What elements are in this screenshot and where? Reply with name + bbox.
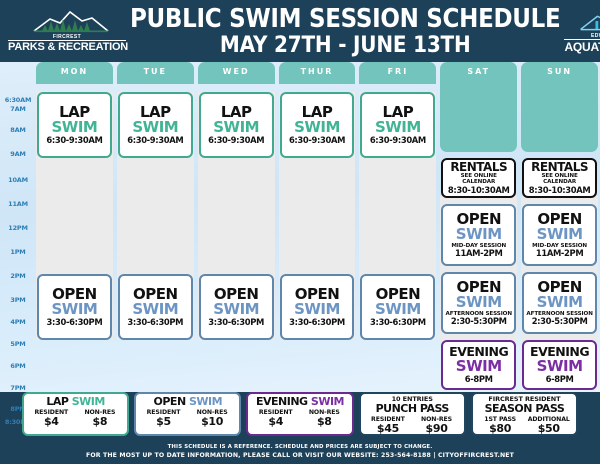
time-label: 8AM <box>0 126 36 134</box>
day-column-body: LAPSWIM6:30-9:30AMOPENSWIM3:30-6:30PM <box>36 84 113 392</box>
day-column-wed: WEDLAPSWIM6:30-9:30AMOPENSWIM3:30-6:30PM <box>198 62 275 392</box>
session-time: 6:30-9:30AM <box>201 136 272 145</box>
mountain-city-icon <box>564 8 600 34</box>
session-time: 3:30-6:30PM <box>39 318 110 327</box>
price-card[interactable]: 10 ENTRIESPUNCH PASSRESIDENT$45NON-RES$9… <box>359 392 466 436</box>
day-header-sat[interactable]: SAT <box>440 62 517 152</box>
title-line-2: MAY 27TH - JUNE 13TH <box>130 32 560 57</box>
session-time: 11AM-2PM <box>443 249 514 258</box>
session-card-open[interactable]: OPENSWIMAFTERNOON SESSION2:30-5:30PM <box>441 272 516 334</box>
session-card-open[interactable]: OPENSWIMMID-DAY SESSION11AM-2PM <box>441 204 516 266</box>
day-header-mon[interactable]: MON <box>36 62 113 84</box>
logo-right-main: AQUATIC CENTER <box>564 39 600 54</box>
price-title: SEASON PASS <box>485 403 565 415</box>
day-column-thur: THURLAPSWIM6:30-9:30AMOPENSWIM3:30-6:30P… <box>279 62 356 392</box>
session-card-evening[interactable]: EVENINGSWIM6-8PM <box>441 340 516 390</box>
day-column-mon: MONLAPSWIM6:30-9:30AMOPENSWIM3:30-6:30PM <box>36 62 113 392</box>
footer-contact: FOR THE MOST UP TO DATE INFORMATION, PLE… <box>0 452 600 459</box>
price-value: $4 <box>27 416 76 428</box>
day-column-sun: SUNRENTALSSEE ONLINE CALENDAR8:30-10:30A… <box>521 62 598 392</box>
session-time: 2:30-5:30PM <box>524 317 595 326</box>
session-subtitle: SWIM <box>201 302 272 318</box>
session-time: 3:30-6:30PM <box>120 318 191 327</box>
price-cell: NON-RES$8 <box>300 409 349 429</box>
price-title-main: PUNCH PASS <box>376 402 449 415</box>
price-title: PUNCH PASS <box>376 403 449 415</box>
price-value: $10 <box>188 416 237 428</box>
time-label: 3PM <box>0 296 36 304</box>
price-card[interactable]: FIRCREST RESIDENTSEASON PASS1ST PASS$80A… <box>471 392 578 436</box>
price-card[interactable]: OPEN SWIMRESIDENT$5NON-RES$10 <box>134 392 241 436</box>
session-subtitle: SWIM <box>524 227 595 243</box>
session-card-evening[interactable]: EVENINGSWIM6-8PM <box>522 340 597 390</box>
price-title: OPEN SWIM <box>154 396 223 408</box>
session-card-open[interactable]: OPENSWIM3:30-6:30PM <box>37 274 112 340</box>
price-cell: RESIDENT$4 <box>27 409 76 429</box>
session-time: 6:30-9:30AM <box>362 136 433 145</box>
session-time: 3:30-6:30PM <box>362 318 433 327</box>
day-column-body: LAPSWIM6:30-9:30AMOPENSWIM3:30-6:30PM <box>359 84 436 392</box>
session-subtitle: SWIM <box>39 120 110 136</box>
session-subtitle: SWIM <box>362 302 433 318</box>
time-label: 12PM <box>0 224 36 232</box>
price-value: $50 <box>524 423 573 435</box>
session-subtitle: SWIM <box>282 120 353 136</box>
session-time: 3:30-6:30PM <box>282 318 353 327</box>
page-footer: THIS SCHEDULE IS A REFERENCE. SCHEDULE A… <box>0 442 600 464</box>
day-column-body: RENTALSSEE ONLINE CALENDAR8:30-10:30AMOP… <box>440 152 517 392</box>
price-cell: ADDITIONAL$50 <box>524 416 573 436</box>
session-card-rentals[interactable]: RENTALSSEE ONLINE CALENDAR8:30-10:30AM <box>522 158 597 198</box>
session-time: 8:30-10:30AM <box>443 186 514 195</box>
day-header-tue[interactable]: TUE <box>117 62 194 84</box>
session-subtitle: SWIM <box>120 302 191 318</box>
logo-left-main: PARKS & RECREATION <box>8 40 126 54</box>
price-columns: RESIDENT$5NON-RES$10 <box>139 409 236 429</box>
price-columns: RESIDENT$4NON-RES$8 <box>27 409 124 429</box>
day-column-tue: TUELAPSWIM6:30-9:30AMOPENSWIM3:30-6:30PM <box>117 62 194 392</box>
price-cell: NON-RES$90 <box>412 416 461 436</box>
session-card-open[interactable]: OPENSWIM3:30-6:30PM <box>199 274 274 340</box>
day-header-thur[interactable]: THUR <box>279 62 356 84</box>
session-time: 6:30-9:30AM <box>120 136 191 145</box>
time-label: 6PM <box>0 362 36 370</box>
time-label: 7AM <box>0 105 36 113</box>
day-header-sun[interactable]: SUN <box>521 62 598 152</box>
session-card-open[interactable]: OPENSWIM3:30-6:30PM <box>360 274 435 340</box>
price-title: LAP SWIM <box>46 396 105 408</box>
session-time: 3:30-6:30PM <box>201 318 272 327</box>
time-label: 9AM <box>0 150 36 158</box>
session-card-lap[interactable]: LAPSWIM6:30-9:30AM <box>118 92 193 158</box>
session-card-lap[interactable]: LAPSWIM6:30-9:30AM <box>37 92 112 158</box>
session-subtitle: SWIM <box>120 120 191 136</box>
session-subtitle: SWIM <box>443 227 514 243</box>
session-title: RENTALS <box>443 161 514 173</box>
time-label: 1PM <box>0 248 36 256</box>
price-cell: RESIDENT$45 <box>364 416 413 436</box>
price-value: $90 <box>412 423 461 435</box>
price-value: $45 <box>364 423 413 435</box>
footer-disclaimer: THIS SCHEDULE IS A REFERENCE. SCHEDULE A… <box>0 442 600 450</box>
pricing-bar: LAP SWIMRESIDENT$4NON-RES$8OPEN SWIMRESI… <box>0 392 600 442</box>
schedule-grid: 6:30AM7AM8AM9AM10AM11AM12PM1PM2PM3PM4PM5… <box>0 62 600 392</box>
session-card-open[interactable]: OPENSWIM3:30-6:30PM <box>280 274 355 340</box>
time-label: 2PM <box>0 272 36 280</box>
session-time: 2:30-5:30PM <box>443 317 514 326</box>
mountain-trees-icon <box>8 9 126 35</box>
day-column-body: LAPSWIM6:30-9:30AMOPENSWIM3:30-6:30PM <box>198 84 275 392</box>
price-title-accent: SWIM <box>186 395 222 408</box>
session-subtitle: SWIM <box>524 359 595 375</box>
price-card[interactable]: EVENING SWIMRESIDENT$4NON-RES$8 <box>246 392 353 436</box>
time-label: 4PM <box>0 318 36 326</box>
price-columns: 1ST PASS$80ADDITIONAL$50 <box>476 416 573 436</box>
session-note: SEE ONLINE CALENDAR <box>524 173 595 185</box>
price-cell: NON-RES$8 <box>76 409 125 429</box>
day-columns: MONLAPSWIM6:30-9:30AMOPENSWIM3:30-6:30PM… <box>36 62 600 392</box>
time-label: 5PM <box>0 340 36 348</box>
title-line-1: PUBLIC SWIM SESSION SCHEDULE <box>130 5 560 32</box>
price-cell: NON-RES$10 <box>188 409 237 429</box>
time-label: 6:30AM <box>0 96 36 104</box>
session-time: 6-8PM <box>524 375 595 384</box>
price-title: EVENING SWIM <box>256 396 344 408</box>
day-column-body: RENTALSSEE ONLINE CALENDAR8:30-10:30AMOP… <box>521 152 598 392</box>
price-title-main: LAP <box>46 395 68 408</box>
price-title-main: EVENING <box>256 395 308 408</box>
time-axis: 6:30AM7AM8AM9AM10AM11AM12PM1PM2PM3PM4PM5… <box>0 62 36 392</box>
day-column-fri: FRILAPSWIM6:30-9:30AMOPENSWIM3:30-6:30PM <box>359 62 436 392</box>
session-subtitle: SWIM <box>282 302 353 318</box>
session-time: 6:30-9:30AM <box>282 136 353 145</box>
session-card-lap[interactable]: LAPSWIM6:30-9:30AM <box>199 92 274 158</box>
day-column-body: LAPSWIM6:30-9:30AMOPENSWIM3:30-6:30PM <box>279 84 356 392</box>
session-card-lap[interactable]: LAPSWIM6:30-9:30AM <box>280 92 355 158</box>
session-subtitle: SWIM <box>524 295 595 311</box>
day-header-fri[interactable]: FRI <box>359 62 436 84</box>
session-time: 11AM-2PM <box>524 249 595 258</box>
day-header-wed[interactable]: WED <box>198 62 275 84</box>
price-cell: RESIDENT$4 <box>251 409 300 429</box>
page-title: PUBLIC SWIM SESSION SCHEDULE MAY 27TH - … <box>126 7 564 55</box>
session-time: 6-8PM <box>443 375 514 384</box>
price-card[interactable]: LAP SWIMRESIDENT$4NON-RES$8 <box>22 392 129 436</box>
session-card-open[interactable]: OPENSWIMMID-DAY SESSION11AM-2PM <box>522 204 597 266</box>
price-value: $80 <box>476 423 525 435</box>
time-label: 7PM <box>0 384 36 392</box>
session-subtitle: SWIM <box>362 120 433 136</box>
page-header: FIRCREST PARKS & RECREATION PUBLIC SWIM … <box>0 0 600 62</box>
session-card-open[interactable]: OPENSWIMAFTERNOON SESSION2:30-5:30PM <box>522 272 597 334</box>
day-column-body: LAPSWIM6:30-9:30AMOPENSWIM3:30-6:30PM <box>117 84 194 392</box>
day-column-sat: SATRENTALSSEE ONLINE CALENDAR8:30-10:30A… <box>440 62 517 392</box>
time-label: 11AM <box>0 200 36 208</box>
price-value: $5 <box>139 416 188 428</box>
session-subtitle: SWIM <box>443 359 514 375</box>
session-subtitle: SWIM <box>39 302 110 318</box>
session-card-lap[interactable]: LAPSWIM6:30-9:30AM <box>360 92 435 158</box>
session-card-rentals[interactable]: RENTALSSEE ONLINE CALENDAR8:30-10:30AM <box>441 158 516 198</box>
price-cell: RESIDENT$5 <box>139 409 188 429</box>
price-title-main: SEASON PASS <box>485 402 565 415</box>
session-note: SEE ONLINE CALENDAR <box>443 173 514 185</box>
aquatic-center-logo: EDWARDS FAMILY AQUATIC CENTER <box>564 8 600 54</box>
time-label: 10AM <box>0 176 36 184</box>
session-card-open[interactable]: OPENSWIM3:30-6:30PM <box>118 274 193 340</box>
price-cell: 1ST PASS$80 <box>476 416 525 436</box>
price-columns: RESIDENT$45NON-RES$90 <box>364 416 461 436</box>
price-columns: RESIDENT$4NON-RES$8 <box>251 409 348 429</box>
session-time: 6:30-9:30AM <box>39 136 110 145</box>
price-title-accent: SWIM <box>68 395 104 408</box>
session-subtitle: SWIM <box>443 295 514 311</box>
price-title-main: OPEN <box>154 395 186 408</box>
session-time: 8:30-10:30AM <box>524 186 595 195</box>
session-title: RENTALS <box>524 161 595 173</box>
fircrest-parks-logo: FIRCREST PARKS & RECREATION <box>8 9 126 54</box>
session-subtitle: SWIM <box>201 120 272 136</box>
price-value: $8 <box>300 416 349 428</box>
price-value: $4 <box>251 416 300 428</box>
price-value: $8 <box>76 416 125 428</box>
price-title-accent: SWIM <box>308 395 344 408</box>
